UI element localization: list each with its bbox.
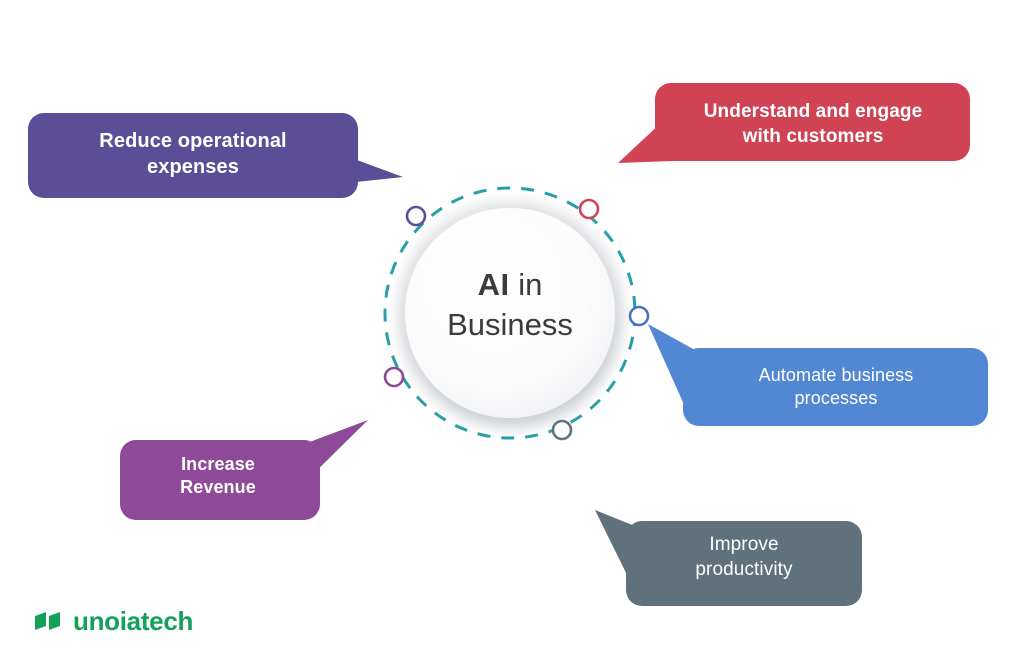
double-flag-icon [34,610,64,634]
center-hub-circle [405,208,615,418]
callout-box-reduce-operational-expenses[interactable] [28,113,358,198]
callout-box-automate-business-processes[interactable] [683,348,988,426]
diagram-graphics [0,0,1024,671]
brand-logo[interactable]: unoiatech [34,606,193,637]
ring-node-understand-and-engage[interactable] [580,200,598,218]
diagram-canvas: AI in Business Reduce operational expens… [0,0,1024,671]
ring-node-automate-business-processes[interactable] [630,307,648,325]
ring-node-increase-revenue[interactable] [385,368,403,386]
callout-box-improve-productivity[interactable] [626,521,862,606]
ring-node-improve-productivity[interactable] [553,421,571,439]
brand-logo-text: unoiatech [73,606,193,637]
callout-box-increase-revenue[interactable] [120,440,320,520]
ring-node-reduce-operational-expenses[interactable] [407,207,425,225]
callout-box-understand-and-engage[interactable] [655,83,970,161]
